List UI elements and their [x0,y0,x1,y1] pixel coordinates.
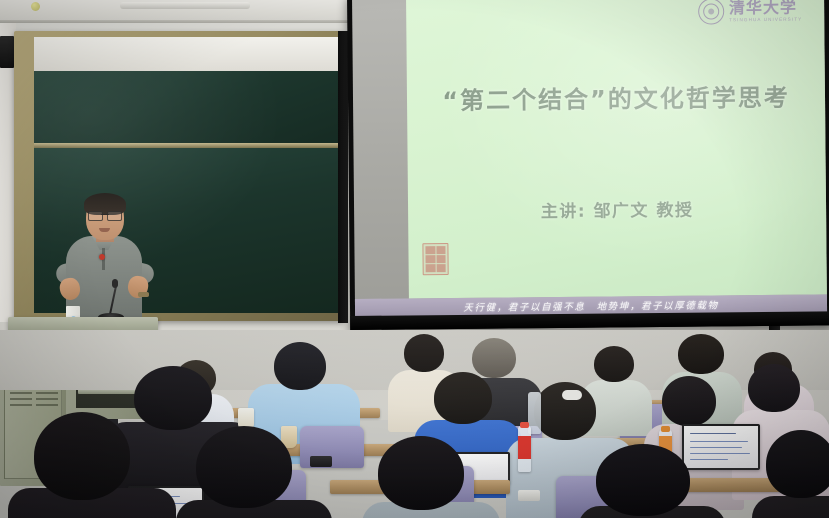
audience-head [196,426,292,508]
logo-english-name: TSINGHUA UNIVERSITY [729,17,802,22]
red-seal-stamp-icon [422,243,448,275]
audience-head [662,376,716,426]
tsinghua-seal-icon [698,0,724,25]
chalkboard-panel-upper [34,71,338,143]
audience-head [596,444,690,516]
chalkboard-right-edge [338,31,348,323]
slide-subtitle-speaker: 主讲: 邹广文 教授 [408,194,826,223]
slide-title: “第二个结合”的文化哲学思考 [407,77,825,116]
laptop-screen [684,426,758,468]
hair-clip-icon [562,390,582,400]
audience-area [0,330,829,518]
audience-head [472,338,516,378]
ceiling-pipe [120,2,250,9]
audience-head [594,346,634,382]
lecture-hall-scene: 清华大学 TSINGHUA UNIVERSITY “第二个结合”的文化哲学思考 … [0,0,829,518]
bottle-cap-icon [520,422,529,428]
audience-head [678,334,724,374]
wall-seam [0,20,355,23]
audience-head [404,334,444,372]
tsinghua-logo: 清华大学 TSINGHUA UNIVERSITY [698,0,802,25]
audience-head [766,430,829,498]
red-beverage-bottle [518,426,531,472]
lectern-top [8,317,158,331]
tsinghua-logo-text: 清华大学 TSINGHUA UNIVERSITY [729,0,802,23]
laptop-right[interactable] [682,424,760,470]
presenter-wristwatch [138,292,149,297]
white-phone-on-desk[interactable] [518,490,540,501]
audience-head [274,342,326,390]
bottle-cap-icon [661,426,670,432]
projected-slide: 清华大学 TSINGHUA UNIVERSITY “第二个结合”的文化哲学思考 … [406,0,827,298]
audience-head [434,372,492,424]
ceiling-light-dot [31,2,40,11]
eyeglasses-icon [88,211,122,219]
audience-torso [752,496,829,518]
audience-head [748,364,800,412]
audience-head [34,412,130,500]
wall-speaker-box [0,36,14,68]
smartphone-on-desk[interactable] [310,456,332,467]
logo-chinese-name: 清华大学 [729,0,802,16]
audience-head [134,366,212,430]
chalkboard-upper-white-strip [34,37,338,71]
microphone-head-icon [112,279,118,288]
audience-head [378,436,464,510]
presenter-lapel-badge [99,254,105,260]
projection-screen-frame: 清华大学 TSINGHUA UNIVERSITY “第二个结合”的文化哲学思考 … [347,0,829,330]
